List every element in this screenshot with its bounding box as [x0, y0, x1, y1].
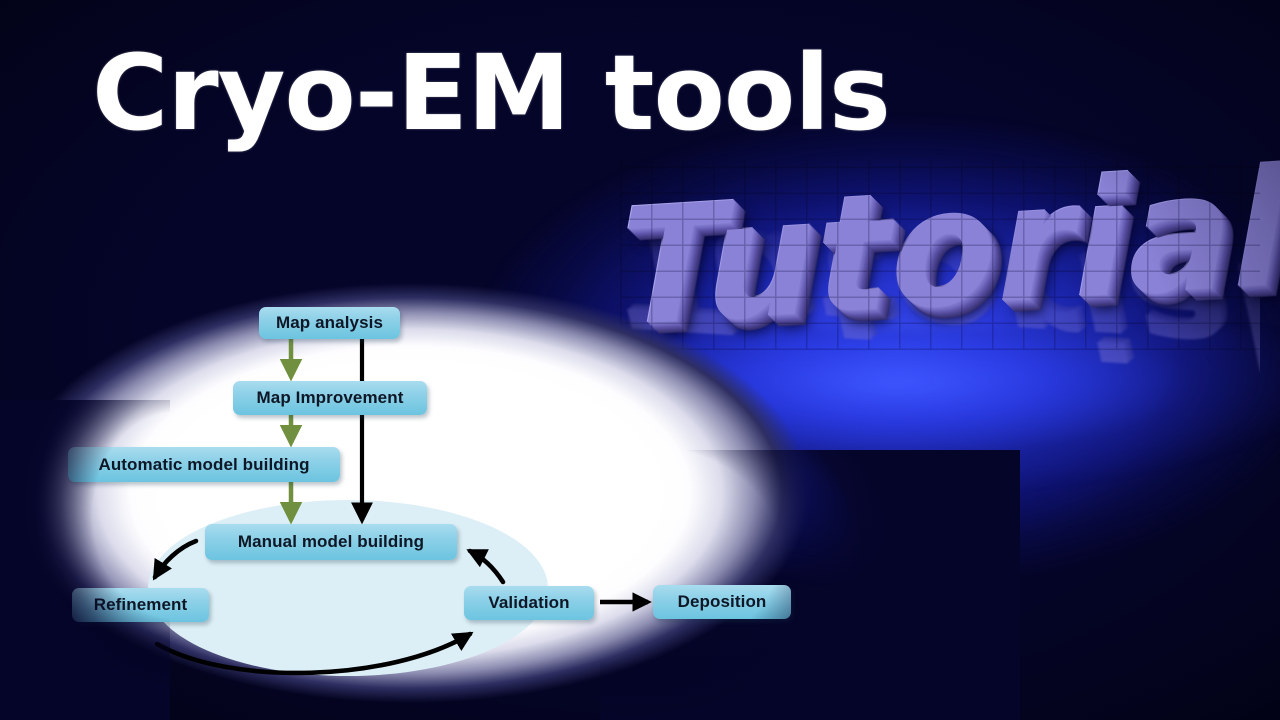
cycle-arrow-refinement-to-validation: [157, 634, 470, 673]
page-title: Cryo-EM tools: [92, 34, 890, 154]
slide-canvas: Tutorial Tutorial: [0, 0, 1280, 720]
cycle-arrow-validation-to-manual: [470, 551, 503, 582]
cycle-arrow-manual-to-refinement: [155, 541, 196, 577]
